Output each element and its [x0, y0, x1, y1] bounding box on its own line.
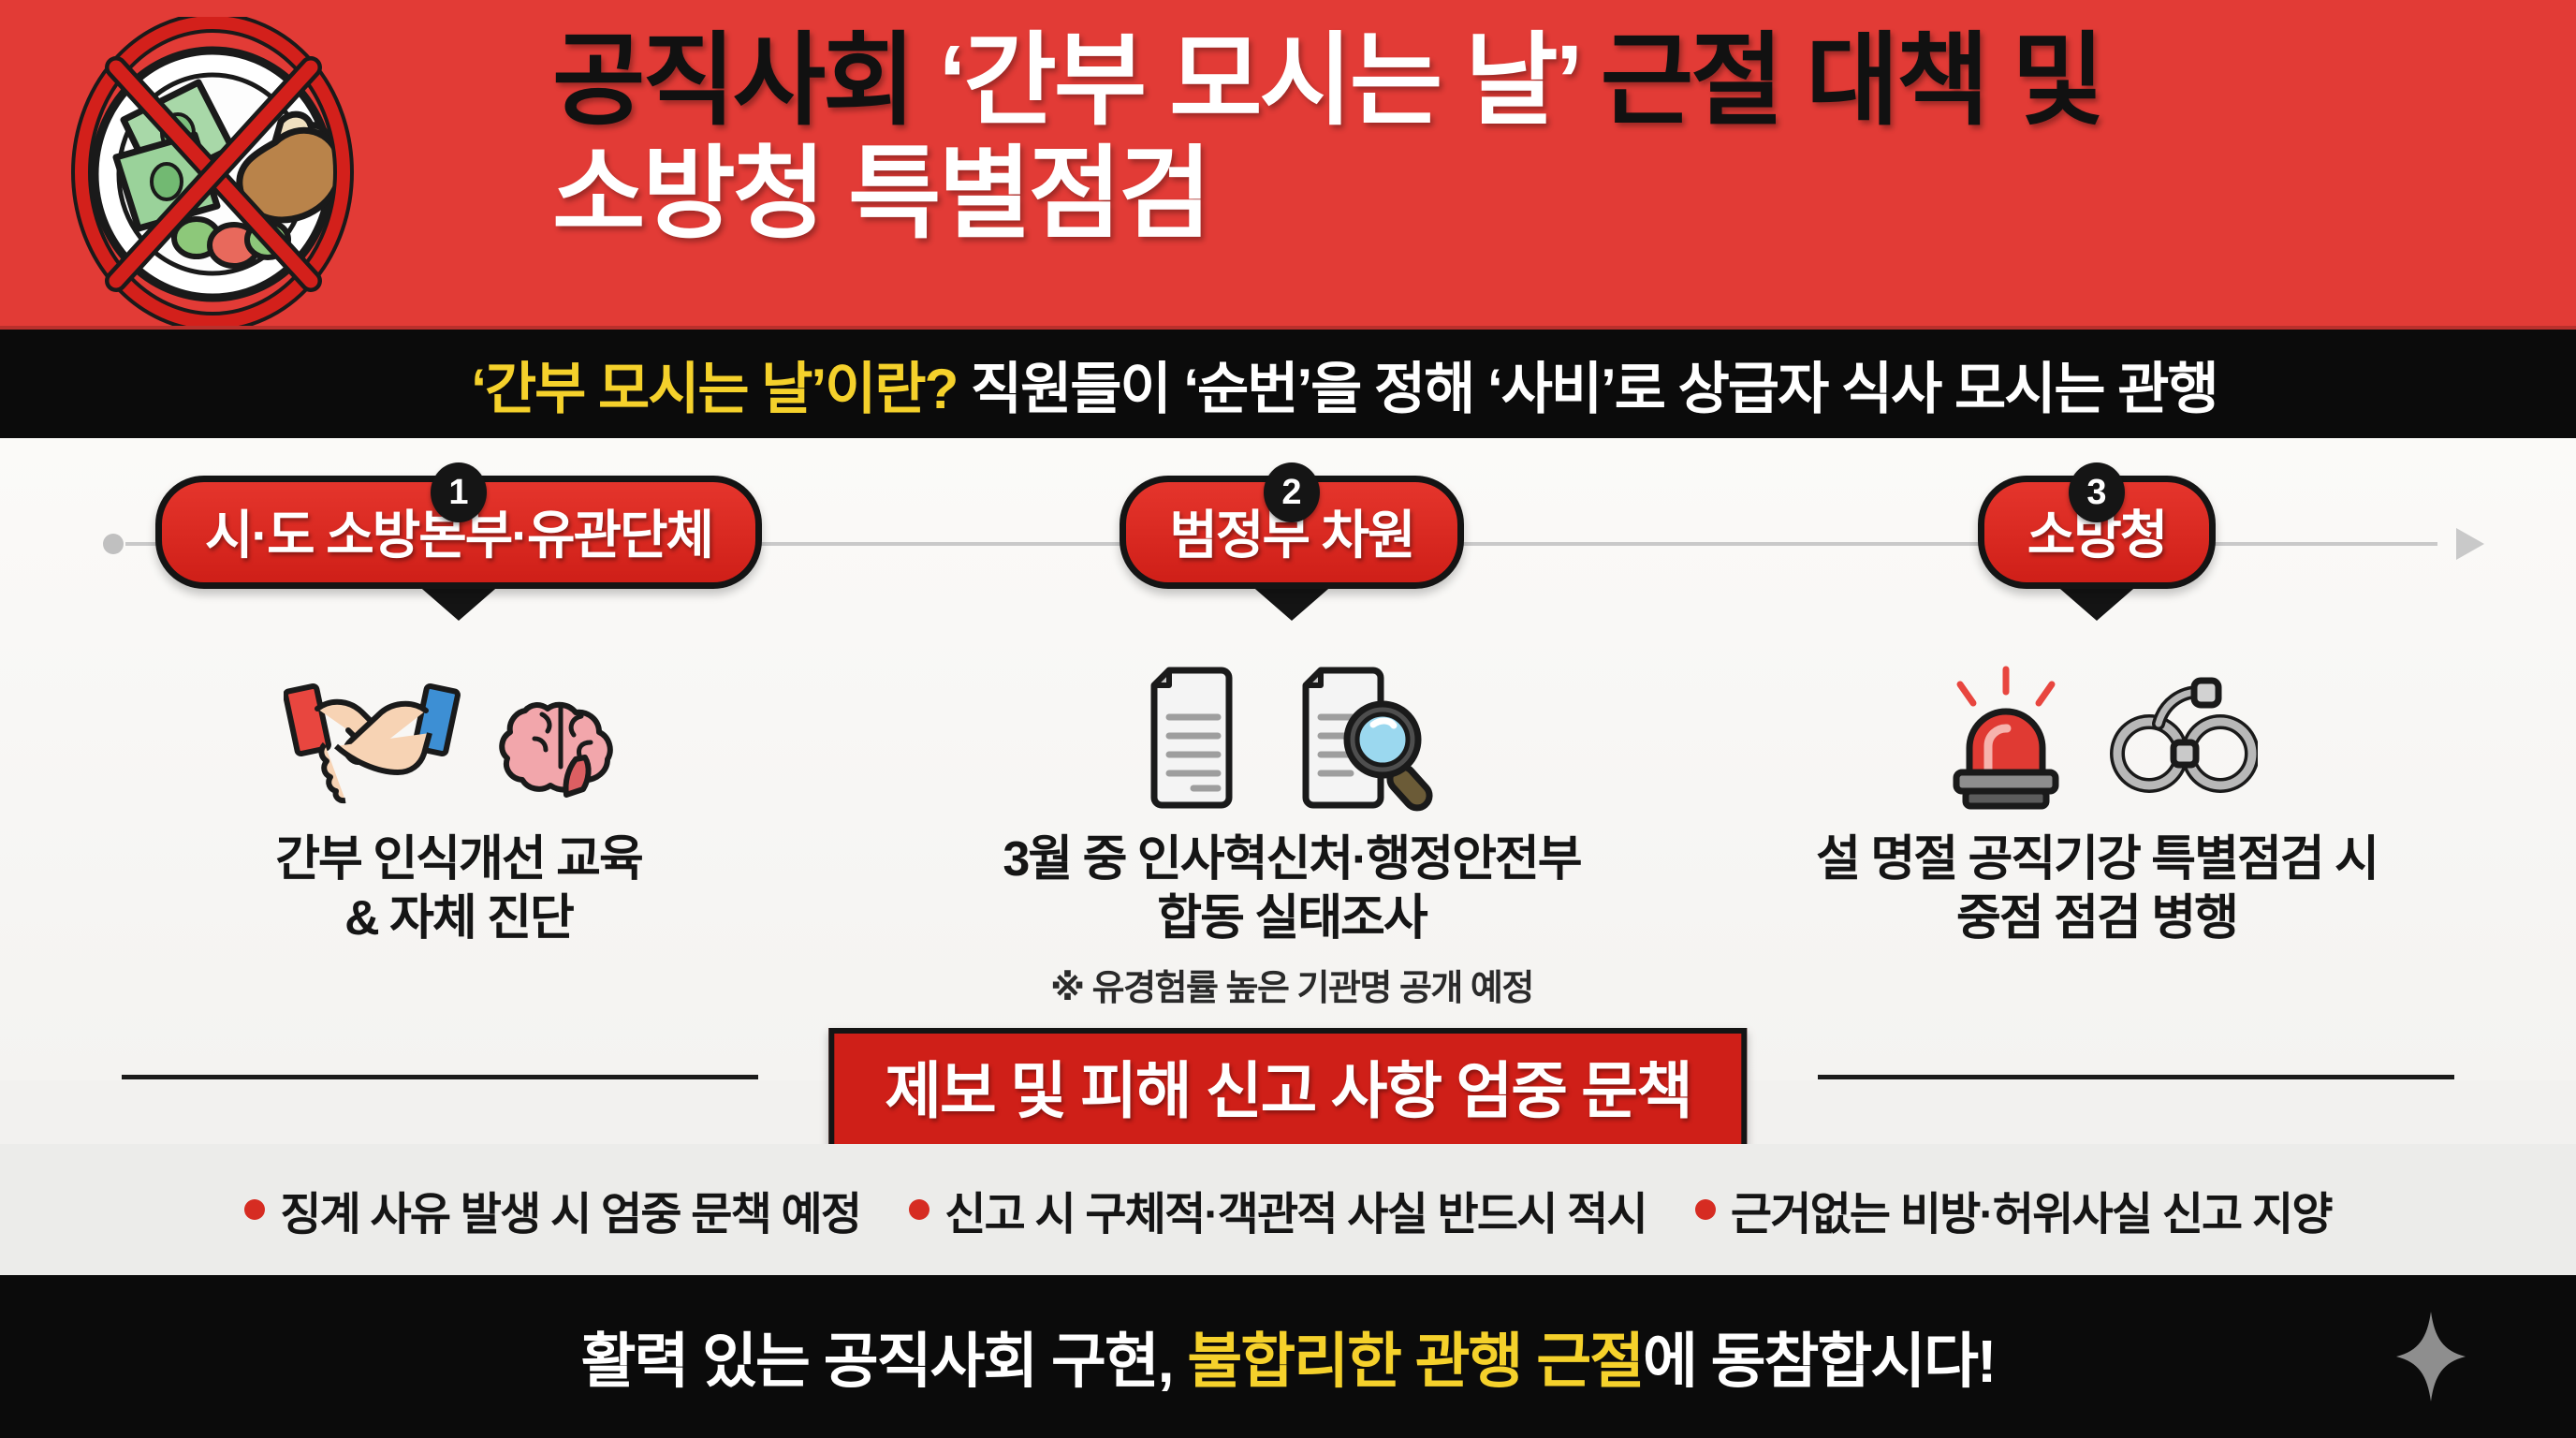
definition-bar: ‘간부 모시는 날’이란? 직원들이 ‘순번’을 정해 ‘사비’로 상급자 식사…: [0, 330, 2576, 438]
step-2-badge[interactable]: 2 범정부 차원: [1120, 476, 1463, 589]
bullet-row: 징계 사유 발생 시 엄중 문책 예정 신고 시 구체적·객관적 사실 반드시 …: [0, 1144, 2576, 1275]
footer-part-2: 불합리한 관행 근절: [1187, 1328, 1643, 1395]
step-2-note: ※ 유경험률 높은 기관명 공개 예정: [936, 959, 1647, 1010]
siren-icon: [1936, 664, 2076, 812]
definition-body: 직원들이 ‘순번’을 정해 ‘사비’로 상급자 식사 모시는 관행: [971, 358, 2217, 420]
step-3: 3 소방청: [1722, 476, 2471, 949]
sparkle-icon: [2396, 1312, 2466, 1401]
step-3-description: 설 명절 공직기강 특별점검 시중점 점검 병행: [1722, 830, 2471, 949]
callout-rule-right: [1818, 1075, 2454, 1079]
step-2-description: 3월 중 인사혁신처·행정안전부합동 실태조사: [936, 830, 1647, 949]
footer-banner: 활력 있는 공직사회 구현, 불합리한 관행 근절에 동참합시다!: [0, 1275, 2576, 1438]
document-search-icon: [1293, 663, 1442, 813]
bullet-dot-icon: [1695, 1199, 1716, 1220]
bullet-dot-icon: [909, 1199, 929, 1220]
bullet-item-3: 근거없는 비방·허위사실 신고 지양: [1695, 1177, 2332, 1242]
title-line-2: 소방청 특별점검: [552, 138, 2546, 251]
step-2: 2 범정부 차원: [936, 476, 1647, 1010]
callout-rule-left: [122, 1075, 758, 1079]
handshake-icon: [284, 668, 461, 808]
step-2-pointer-icon: [1249, 583, 1335, 621]
step-1-icons: [112, 658, 805, 817]
title-seg-1: 공직사회: [552, 23, 938, 137]
step-1-pointer-icon: [416, 583, 502, 621]
definition-question: ‘간부 모시는 날’이란?: [471, 358, 957, 420]
footer-slogan: 활력 있는 공직사회 구현, 불합리한 관행 근절에 동참합시다!: [581, 1313, 1996, 1400]
step-1-number: 1: [431, 462, 487, 522]
title-line-1: 공직사회 ‘간부 모시는 날’ 근절 대책 및: [552, 24, 2546, 138]
title-seg-4: 소방청 특별점검: [552, 137, 1209, 250]
step-1-description: 간부 인식개선 교육& 자체 진단: [112, 830, 805, 949]
bullet-item-1: 징계 사유 발생 시 엄중 문책 예정: [244, 1177, 860, 1242]
bullet-text-2: 신고 시 구체적·객관적 사실 반드시 적시: [944, 1177, 1647, 1242]
title-seg-2: ‘간부 모시는 날’: [938, 23, 1577, 137]
steps-section: 1 시·도 소방본부·유관단체: [0, 438, 2576, 1080]
page-title: 공직사회 ‘간부 모시는 날’ 근절 대책 및 소방청 특별점검: [552, 24, 2546, 251]
step-3-icons: [1722, 658, 2471, 817]
step-3-number: 3: [2069, 462, 2125, 522]
step-1-badge[interactable]: 1 시·도 소방본부·유관단체: [155, 476, 762, 589]
step-3-badge[interactable]: 3 소방청: [1978, 476, 2217, 589]
footer-part-1: 활력 있는 공직사회 구현,: [581, 1328, 1188, 1395]
brain-icon: [493, 668, 634, 808]
bullet-dot-icon: [244, 1199, 265, 1220]
callout-zone: 제보 및 피해 신고 사항 엄중 문책: [0, 1028, 2576, 1125]
no-bribery-meal-icon: [58, 17, 367, 326]
title-seg-3: 근절 대책 및: [1578, 23, 2102, 137]
bullet-text-1: 징계 사유 발생 시 엄중 문책 예정: [280, 1177, 860, 1242]
step-2-number: 2: [1264, 462, 1320, 522]
bullet-text-3: 근거없는 비방·허위사실 신고 지양: [1731, 1177, 2332, 1242]
step-2-icons: [936, 658, 1647, 817]
handcuffs-icon: [2108, 668, 2258, 808]
footer-part-3: 에 동참합시다!: [1643, 1328, 1995, 1395]
step-3-pointer-icon: [2054, 583, 2140, 621]
header-banner: 공직사회 ‘간부 모시는 날’ 근절 대책 및 소방청 특별점검: [0, 0, 2576, 330]
callout-banner: 제보 및 피해 신고 사항 엄중 문책: [828, 1028, 1747, 1150]
bullet-item-2: 신고 시 구체적·객관적 사실 반드시 적시: [909, 1177, 1647, 1242]
infographic-poster: 공직사회 ‘간부 모시는 날’ 근절 대책 및 소방청 특별점검 ‘간부 모시는…: [0, 0, 2576, 1438]
definition-text: ‘간부 모시는 날’이란? 직원들이 ‘순번’을 정해 ‘사비’로 상급자 식사…: [359, 344, 2217, 425]
document-icon: [1141, 663, 1261, 813]
step-1: 1 시·도 소방본부·유관단체: [112, 476, 805, 949]
